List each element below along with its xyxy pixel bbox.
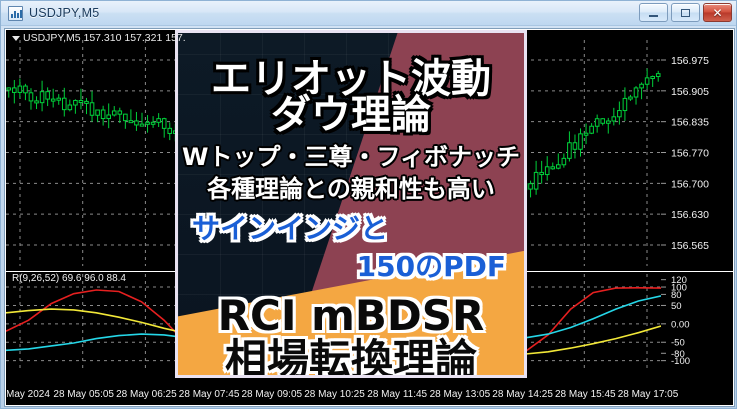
svg-text:156.975: 156.975 (671, 55, 709, 67)
maximize-button[interactable] (671, 3, 700, 22)
price-axis-ticks: 156.975156.905156.835156.770156.700156.6… (661, 30, 733, 270)
svg-text:80: 80 (671, 290, 682, 301)
time-axis: 28 May 202428 May 05:0528 May 06:2528 Ma… (7, 388, 732, 404)
time-axis-label: 28 May 07:45 (179, 389, 240, 400)
subhead-line-1: Wトップ・三尊・フィボナッチ (178, 145, 524, 169)
svg-text:-100: -100 (671, 356, 690, 367)
product-line-1: RCI mBDSR (178, 295, 524, 337)
time-axis-label: 28 May 10:25 (304, 389, 365, 400)
svg-text:50: 50 (671, 301, 682, 312)
window-title: USDJPY,M5 (29, 6, 99, 20)
headline-line-2: ダウ理論 (178, 95, 524, 135)
close-button[interactable]: ✕ (703, 3, 732, 22)
indicator-axis-ticks: 12010080500.00-50-80-100 (661, 272, 733, 372)
time-axis-label: 28 May 15:45 (555, 389, 616, 400)
svg-text:156.630: 156.630 (671, 209, 709, 221)
svg-text:0.00: 0.00 (671, 319, 690, 330)
indicator-label: R(9,26,52) 69.6 96.0 88.4 (12, 273, 126, 284)
time-axis-label: 28 May 09:05 (241, 389, 302, 400)
svg-text:156.770: 156.770 (671, 148, 709, 160)
time-axis-label: 28 May 17:05 (618, 389, 679, 400)
time-axis-label: 28 May 05:05 (53, 389, 114, 400)
window-controls: ✕ (639, 3, 732, 22)
minimize-button[interactable] (639, 3, 668, 22)
time-axis-label: 28 May 13:05 (430, 389, 491, 400)
feature-line-2: 150のPDF (178, 253, 524, 281)
chart-window-icon (8, 6, 23, 21)
svg-text:156.700: 156.700 (671, 178, 709, 190)
promo-overlay: エリオット波動 ダウ理論 Wトップ・三尊・フィボナッチ 各種理論との親和性も高い… (175, 30, 527, 378)
price-axis: 156.975156.905156.835156.770156.700156.6… (661, 30, 733, 270)
maximize-icon (681, 9, 690, 17)
symbol-label: USDJPY,M5 157.310 157.321 157. (12, 32, 186, 44)
svg-text:156.565: 156.565 (671, 240, 709, 252)
window-titlebar[interactable]: USDJPY,M5 ✕ (1, 1, 736, 26)
svg-text:156.835: 156.835 (671, 117, 709, 129)
screenshot-root: USDJPY,M5 ✕ USDJPY,M5 157.310 157. (0, 0, 737, 409)
time-axis-label: 28 May 14:25 (492, 389, 553, 400)
svg-text:156.905: 156.905 (671, 86, 709, 98)
application-window: USDJPY,M5 ✕ USDJPY,M5 157.310 157. (0, 0, 737, 409)
time-axis-label: 28 May 11:45 (367, 389, 427, 400)
time-axis-label: 28 May 06:25 (116, 389, 177, 400)
feature-line-1: サインインジと (178, 215, 524, 243)
indicator-axis: 12010080500.00-50-80-100 (661, 272, 733, 372)
minimize-icon (649, 15, 658, 17)
subhead-line-2: 各種理論との親和性も高い (178, 177, 524, 201)
close-icon: ✕ (712, 7, 722, 19)
product-line-2: 相場転換理論 (178, 339, 524, 378)
chevron-down-icon[interactable] (12, 36, 20, 41)
svg-text:-50: -50 (671, 338, 685, 349)
time-axis-label: 28 May 2024 (7, 389, 50, 400)
